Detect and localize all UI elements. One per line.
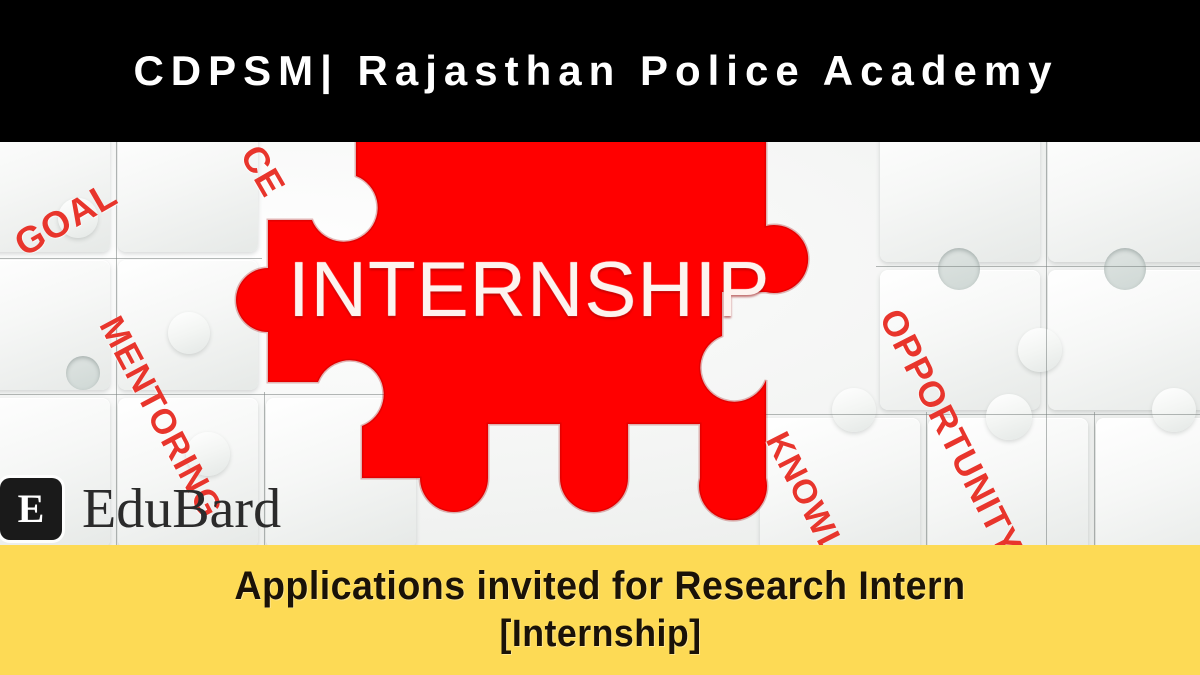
puzzle-piece [1096,418,1200,545]
puzzle-knob [1018,328,1062,372]
edubard-wordmark: EduBard [82,481,281,537]
puzzle-piece [880,142,1040,262]
footer-subline: [Internship] [499,611,701,657]
edubard-logo: E EduBard [0,478,281,540]
puzzle-piece [266,398,416,545]
puzzle-knob [168,312,210,354]
puzzle-notch [66,356,100,390]
puzzle-knob [986,394,1032,440]
puzzle-seam [0,394,420,395]
internship-announcement-banner: CDPSM| Rajasthan Police Academy [0,0,1200,675]
edubard-logo-letter: E [18,489,45,529]
puzzle-artwork: INTERNSHIP GOAL MENTORING CE OPPORTUNITY… [0,142,1200,545]
header-band: CDPSM| Rajasthan Police Academy [0,0,1200,142]
page-title: CDPSM| Rajasthan Police Academy [133,50,1058,92]
puzzle-seam [876,266,1200,267]
footer-headline: Applications invited for Research Intern [234,562,965,611]
puzzle-seam [1094,412,1095,545]
puzzle-notch [1104,248,1146,290]
puzzle-knob [832,388,876,432]
puzzle-piece [1048,142,1200,262]
puzzle-notch [938,248,980,290]
edubard-logo-mark: E [0,478,62,540]
puzzle-knob [1152,388,1196,432]
puzzle-seam [756,414,1200,415]
footer-band: Applications invited for Research Intern… [0,545,1200,675]
internship-word: INTERNSHIP [288,250,770,328]
puzzle-seam [1046,142,1047,545]
